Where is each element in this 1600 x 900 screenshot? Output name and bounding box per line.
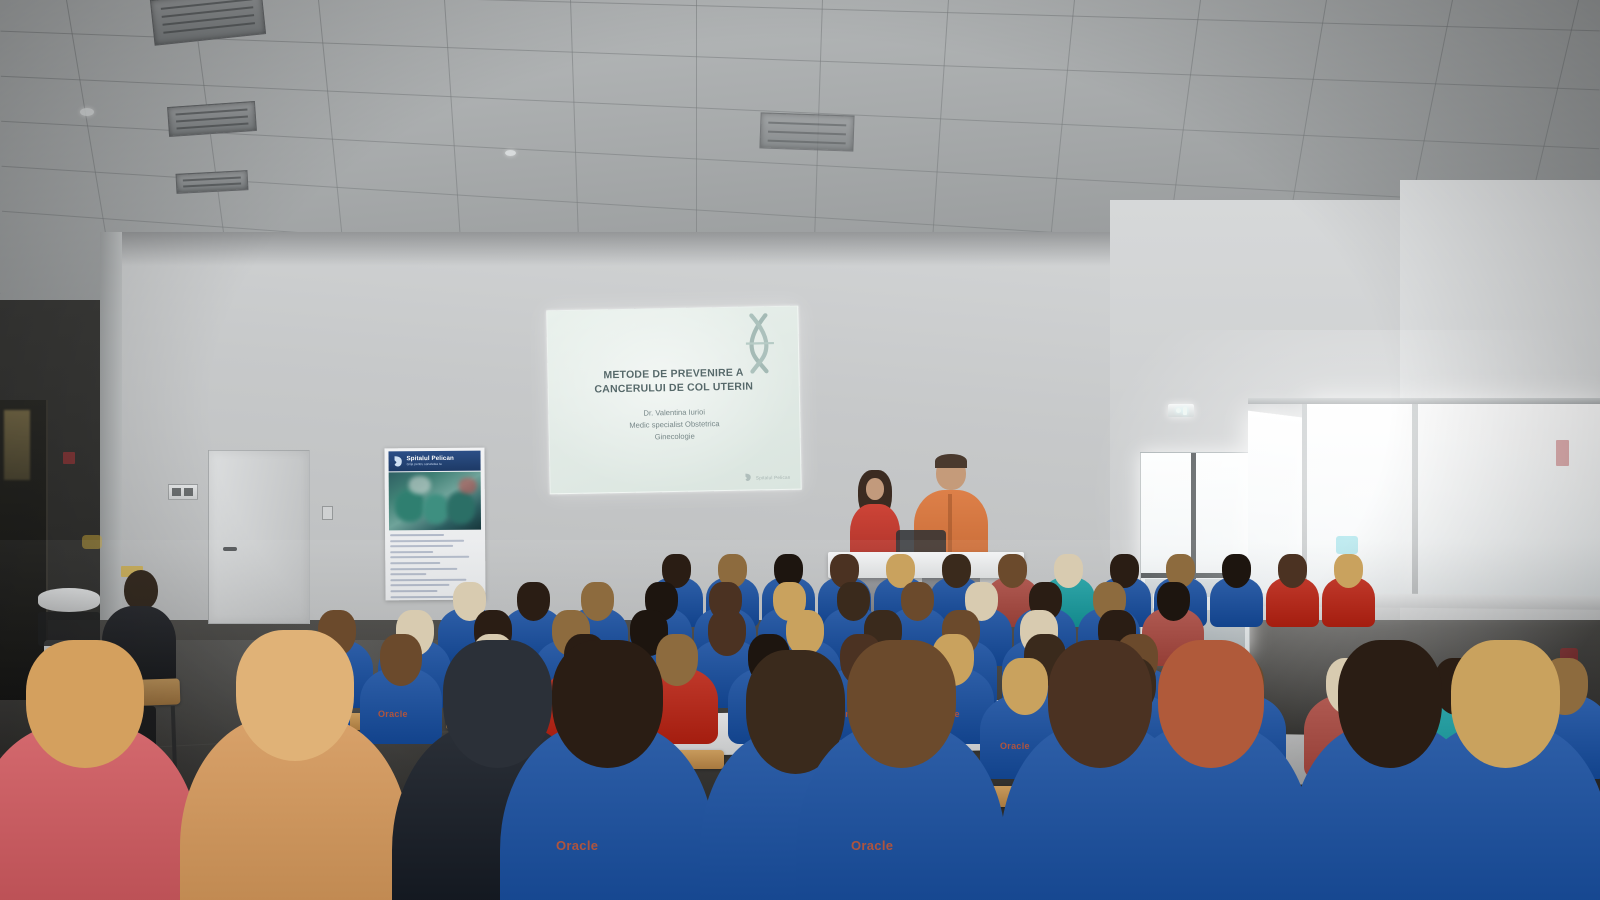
hvac-vent-4 (759, 112, 854, 151)
ceiling-sprinkler-2 (505, 150, 516, 156)
pelican-icon (393, 455, 404, 468)
attendee-hair (1278, 554, 1307, 588)
doorway-light (4, 410, 30, 480)
attendee-blue-uniform (1210, 556, 1263, 635)
slide-subtitle: Dr. Valentina Iurioi Medic specialist Ob… (561, 405, 788, 445)
fire-extinguisher-sign-left (63, 452, 75, 464)
attendee-blue-uniform: Oracle (500, 640, 715, 900)
hvac-vent-3 (176, 170, 249, 194)
attendee-shirt-logo: Oracle (851, 838, 893, 853)
window-head-rail (1248, 398, 1600, 404)
attendee-hair (1222, 554, 1251, 588)
attendee-hair (942, 554, 971, 588)
attendee-hair (998, 554, 1027, 588)
white-door[interactable] (208, 450, 310, 624)
attendee-blue-uniform (1108, 640, 1313, 900)
attendee-hair (26, 640, 144, 768)
window-mullion-2 (1412, 400, 1418, 598)
window-teal-object (1336, 536, 1358, 554)
slide-hospital-logo: Spitalul Pelican (744, 472, 791, 483)
attendee-blue-uniform: Oracle (796, 640, 1006, 900)
poster-tagline: Grija pentru sanatatea ta (407, 463, 454, 467)
attendee-hair (552, 640, 663, 768)
attendee-hair (1157, 582, 1190, 621)
wall-top-shadow (100, 232, 1110, 266)
attendee-red-top (1266, 556, 1319, 635)
poster-photo (389, 472, 481, 531)
attendee-hair (1451, 640, 1560, 768)
ceiling-sprinkler-1 (80, 108, 94, 116)
attendee-pink-top (0, 640, 200, 900)
attendee-head (124, 570, 158, 610)
door-handle[interactable] (223, 547, 237, 551)
attendee-hair (236, 630, 354, 761)
slide-title: METODE DE PREVENIRE A CANCERULUI DE COL … (556, 365, 791, 398)
wall-sticker-yellow (82, 535, 102, 549)
attendee-hair (1054, 554, 1083, 588)
fire-extinguisher-sign-right (1556, 440, 1569, 466)
attendee-hair (847, 640, 956, 768)
attendee-hair (1158, 640, 1264, 768)
presenter-woman-face (866, 478, 884, 500)
attendee-blue-uniform (1400, 640, 1600, 900)
attendee-red-top (1322, 556, 1375, 635)
attendee-hair (1334, 554, 1363, 588)
attendee-shirt-logo: Oracle (556, 838, 598, 853)
attendee-foreground-blonde (180, 630, 410, 900)
presenter-man-hair (935, 454, 967, 468)
projected-slide: METODE DE PREVENIRE A CANCERULUI DE COL … (546, 306, 801, 495)
light-switch-double[interactable] (168, 484, 198, 500)
pelican-logo-icon (744, 473, 753, 483)
poster-header: Spitalul Pelican Grija pentru sanatatea … (388, 451, 480, 472)
slide-logo-text: Spitalul Pelican (756, 474, 791, 480)
hospital-poster: Spitalul Pelican Grija pentru sanatatea … (384, 448, 485, 601)
window-pane-right[interactable] (1418, 400, 1600, 596)
waste-bin-lid (38, 588, 100, 612)
emergency-exit-sign (1168, 404, 1194, 417)
conference-room-photo: METODE DE PREVENIRE A CANCERULUI DE COL … (0, 0, 1600, 900)
wall-outlet[interactable] (322, 506, 333, 520)
hvac-vent-2 (167, 101, 257, 137)
